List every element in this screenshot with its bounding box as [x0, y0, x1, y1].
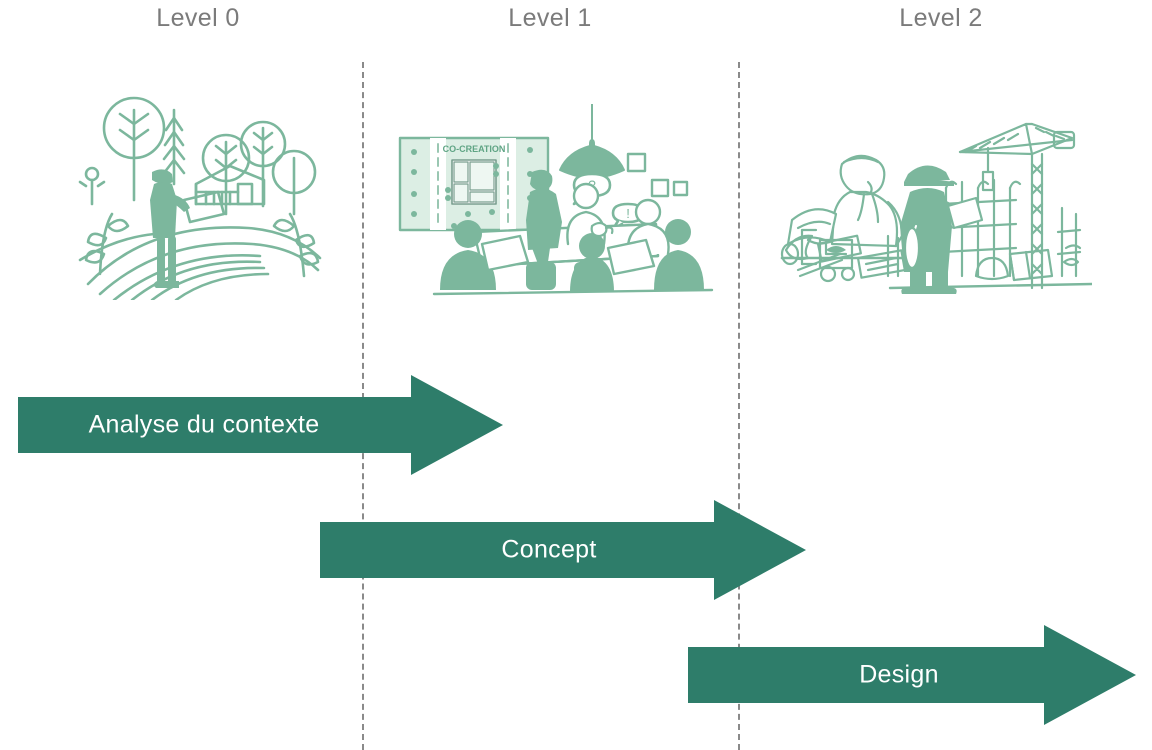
arrow-shape — [688, 625, 1136, 725]
hard-hat-icon — [976, 258, 1008, 279]
plant-icon — [274, 214, 318, 276]
illustration-construction-design — [780, 108, 1092, 296]
rolled-plan-icon — [905, 228, 919, 268]
stool-icon — [526, 262, 556, 290]
sticky-note-icon — [628, 154, 645, 171]
teapot-icon — [592, 223, 607, 236]
stool-icon — [574, 262, 604, 290]
pendant-lamp-icon — [560, 140, 624, 178]
plant-icon — [86, 214, 128, 274]
pinboard-title: CO-CREATION — [443, 144, 506, 154]
sticky-note-icon — [674, 182, 687, 195]
arrow-shape — [18, 375, 503, 475]
arrow-shape — [320, 500, 806, 600]
diagram-canvas: Level 0 Level 1 Level 2 — [0, 0, 1152, 750]
arrow-analyse-du-contexte[interactable] — [0, 360, 560, 490]
bubble-text-exclamation: ! — [626, 206, 630, 221]
sticky-note-icon — [652, 180, 668, 196]
column-header-level-0: Level 0 — [156, 4, 239, 33]
column-header-level-1: Level 1 — [508, 4, 591, 33]
illustration-site-analysis-landscape — [78, 88, 330, 300]
illustration-co-creation-workshop: CO-CREATION — [396, 104, 716, 300]
arrow-design[interactable] — [670, 610, 1152, 740]
field-furrows-icon — [80, 227, 320, 300]
arrow-concept[interactable] — [300, 485, 860, 615]
plant-icon — [80, 168, 104, 204]
clipboard-icon — [184, 192, 224, 222]
column-header-level-2: Level 2 — [899, 4, 982, 33]
